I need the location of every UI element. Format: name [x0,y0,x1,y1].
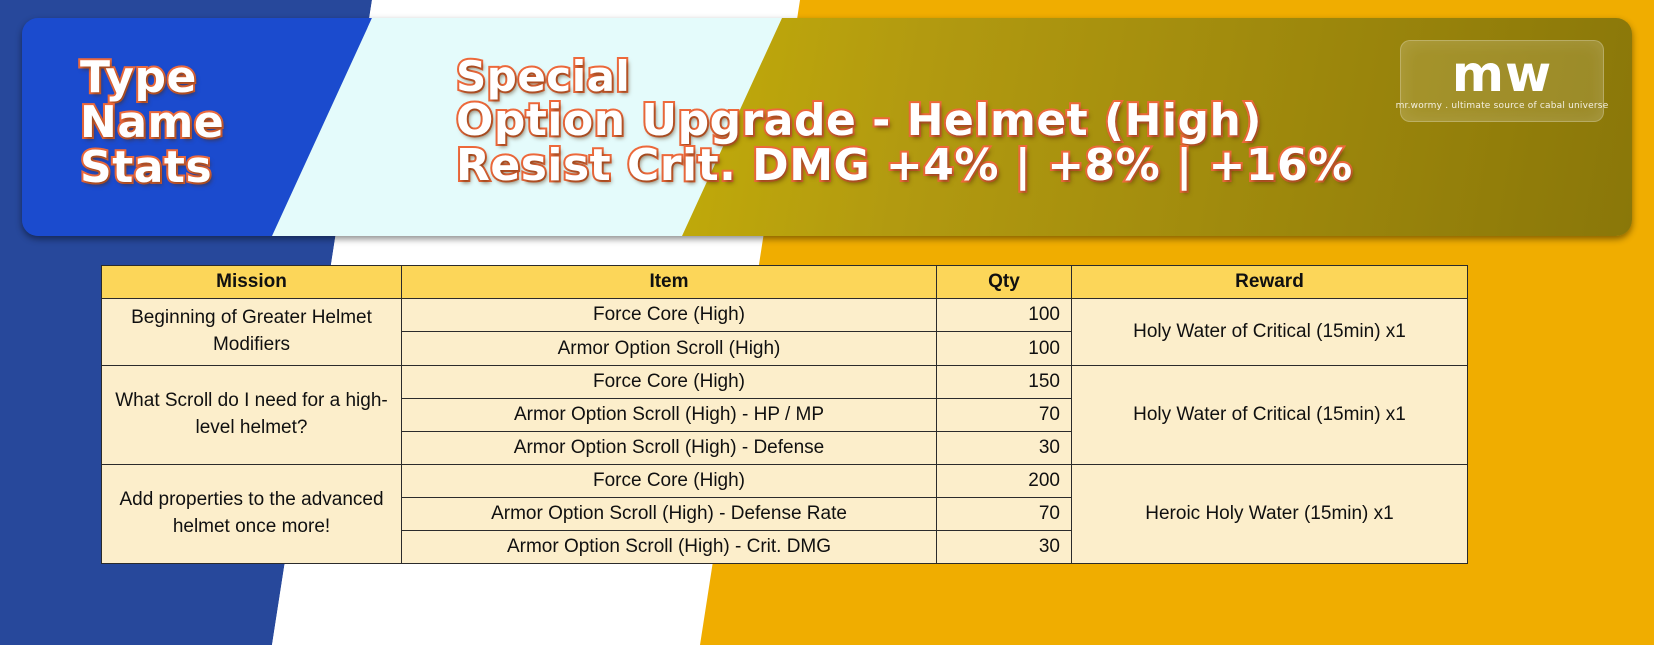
banner-value-stats: Resist Crit. DMG +4% | +8% | +16% [456,144,1353,189]
item-cell: Armor Option Scroll (High) [402,332,937,365]
column-header-mission: Mission [102,266,402,299]
banner-label-stats: Stats [80,146,224,191]
banner-value-type: Special [456,56,1353,99]
item-cell: Armor Option Scroll (High) - Crit. DMG [402,530,937,563]
mission-table-wrapper: Mission Item Qty Reward Beginning of Gre… [101,265,1467,564]
banner-detail-column: Special Option Upgrade - Helmet (High) R… [456,56,1353,189]
reward-cell: Heroic Holy Water (15min) x1 [1072,464,1468,563]
qty-cell: 100 [937,332,1072,365]
reward-cell: Holy Water of Critical (15min) x1 [1072,299,1468,366]
mission-table: Mission Item Qty Reward Beginning of Gre… [101,265,1468,564]
banner-label-type: Type [80,56,224,101]
table-row: Add properties to the advanced helmet on… [102,464,1468,497]
qty-cell: 30 [937,431,1072,464]
mission-cell: What Scroll do I need for a high-level h… [102,365,402,464]
item-cell: Force Core (High) [402,365,937,398]
item-cell: Armor Option Scroll (High) - HP / MP [402,398,937,431]
item-cell: Armor Option Scroll (High) - Defense Rat… [402,497,937,530]
banner-label-column: Type Name Stats [80,56,224,191]
mission-table-body: Beginning of Greater Helmet ModifiersFor… [102,299,1468,564]
column-header-qty: Qty [937,266,1072,299]
table-row: Beginning of Greater Helmet ModifiersFor… [102,299,1468,332]
qty-cell: 70 [937,497,1072,530]
column-header-item: Item [402,266,937,299]
qty-cell: 30 [937,530,1072,563]
qty-cell: 150 [937,365,1072,398]
mw-logo-tagline: mr.wormy . ultimate source of cabal univ… [1396,101,1609,111]
banner-value-name: Option Upgrade - Helmet (High) [456,99,1353,144]
qty-cell: 100 [937,299,1072,332]
qty-cell: 70 [937,398,1072,431]
mw-logo-mark: mw [1452,51,1552,99]
table-header-row: Mission Item Qty Reward [102,266,1468,299]
qty-cell: 200 [937,464,1072,497]
mission-cell: Beginning of Greater Helmet Modifiers [102,299,402,366]
reward-cell: Holy Water of Critical (15min) x1 [1072,365,1468,464]
item-cell: Armor Option Scroll (High) - Defense [402,431,937,464]
item-cell: Force Core (High) [402,299,937,332]
banner-label-name: Name [80,101,224,146]
column-header-reward: Reward [1072,266,1468,299]
mission-cell: Add properties to the advanced helmet on… [102,464,402,563]
item-cell: Force Core (High) [402,464,937,497]
info-banner: Type Name Stats Special Option Upgrade -… [22,18,1632,236]
table-row: What Scroll do I need for a high-level h… [102,365,1468,398]
mw-logo: mw mr.wormy . ultimate source of cabal u… [1400,40,1604,122]
